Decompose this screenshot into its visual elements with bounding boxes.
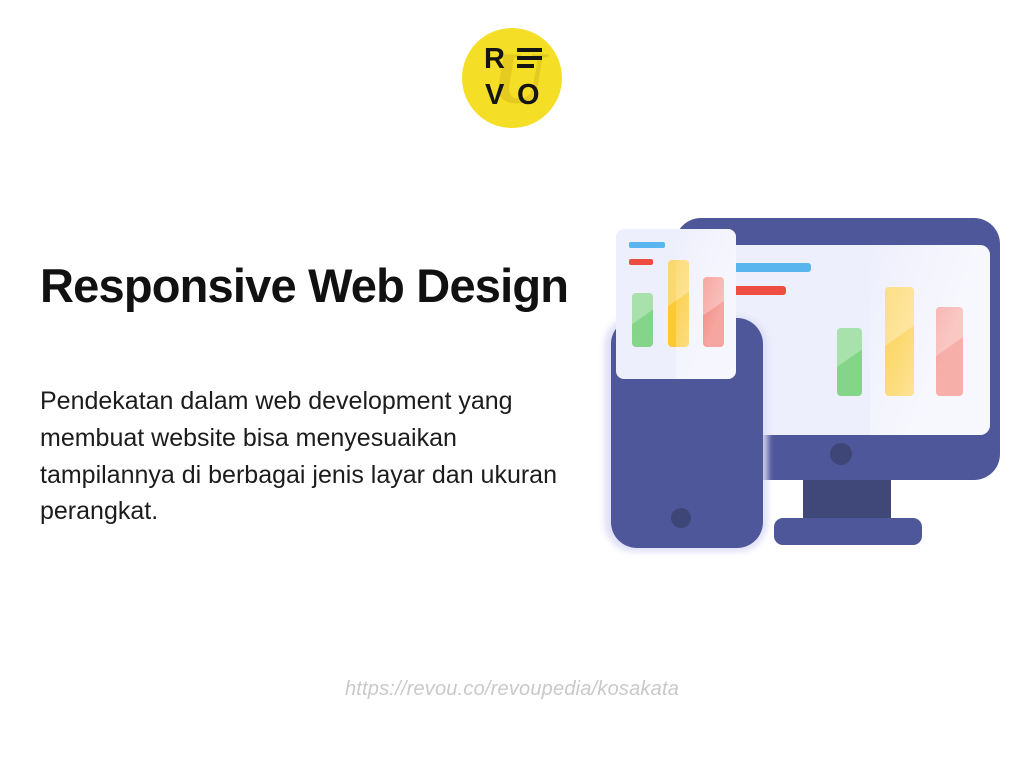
- logo-circle: U R V O: [462, 28, 562, 128]
- logo-letter-e-bars-icon: [517, 48, 542, 71]
- phone-text-line-red: [629, 259, 653, 265]
- phone-text-line-blue: [629, 242, 665, 248]
- phone-chart-bar-1: [632, 293, 653, 347]
- logo-letter-r: R: [484, 45, 504, 74]
- monitor-text-line-red: [731, 286, 786, 295]
- source-url: https://revou.co/revoupedia/kosakata: [0, 678, 1024, 701]
- logo-letter-v: V: [485, 81, 504, 110]
- phone-screen-glare: [676, 229, 736, 379]
- monitor-text-line-blue: [731, 263, 811, 272]
- logo-letter-grid: R V O: [482, 45, 544, 111]
- monitor-screen-glare: [870, 245, 990, 435]
- phone-home-button: [671, 508, 691, 528]
- page-title: Responsive Web Design: [40, 259, 568, 313]
- revou-logo: U R V O: [462, 28, 562, 128]
- monitor-power-indicator-icon: [830, 443, 852, 465]
- monitor-chart-bar-1: [837, 328, 862, 396]
- responsive-devices-illustration: [600, 200, 1020, 570]
- slide-canvas: U R V O Responsive Web Design Pendekatan…: [0, 0, 1024, 768]
- logo-letter-o: O: [517, 81, 539, 110]
- monitor-stand-base: [774, 518, 922, 545]
- monitor-stand-neck: [803, 480, 891, 522]
- mobile-phone-screen: [616, 229, 736, 379]
- description-text: Pendekatan dalam web development yang me…: [40, 383, 585, 530]
